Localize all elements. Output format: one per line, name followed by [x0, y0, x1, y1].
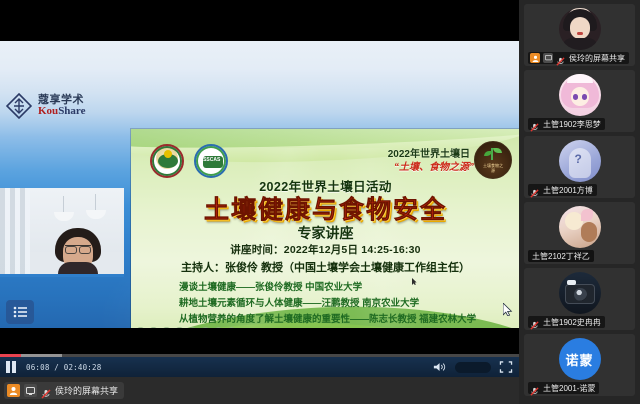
koushare-logo-share: Share [58, 105, 85, 117]
mic-muted-icon [530, 185, 540, 195]
slide-world-soil-day-slogan: “土壤、食物之源” [394, 158, 474, 173]
participant-name: 土管2001方博 [543, 185, 593, 196]
pointer-icon[interactable] [175, 327, 184, 328]
share-screen-icon [24, 384, 37, 397]
pause-icon[interactable] [6, 361, 18, 373]
meeting-status-bar: 侯玲的屏幕共享 [0, 377, 519, 404]
participant-tile[interactable]: 侯玲的屏幕共享 [524, 4, 635, 66]
participant-nameplate: 土管1902史冉冉 [528, 316, 605, 328]
status-bar-label: 侯玲的屏幕共享 [55, 384, 118, 397]
avatar [559, 272, 601, 314]
screen-icon[interactable] [201, 327, 210, 328]
participant-nameplate: 土管2001-诺蒙 [528, 382, 599, 394]
issas-cas-emblem-text: ISSCAS [196, 157, 226, 163]
mic-muted-icon [530, 383, 540, 393]
playlist-button[interactable] [6, 300, 34, 324]
camera-lamp-icon [86, 210, 106, 219]
slide-agenda-item: 耕地土壤元素循环与人体健康——汪鹏教授 南京农业大学 [179, 295, 419, 309]
slide-annotation-toolbar[interactable] [136, 326, 236, 328]
volume-icon[interactable] [433, 361, 447, 373]
highlighter-icon[interactable] [149, 327, 158, 328]
avatar: 诺蒙 [559, 338, 601, 380]
pen-icon[interactable] [136, 327, 145, 328]
presenter-camera-thumbnail [0, 188, 124, 277]
mic-muted-icon [530, 119, 540, 129]
presenter-figure [55, 228, 101, 274]
participant-tile[interactable]: 土管2102丁祥乙 [524, 202, 635, 264]
slide-icon[interactable] [188, 327, 197, 328]
participants-icon [7, 384, 20, 397]
presentation-slide: ISSCAS 土壤食物之源 2022年世界土壤日 “土壤、食物之源” 2022年… [131, 129, 519, 328]
stage-letterbox-top [0, 0, 519, 41]
china-soil-society-emblem [150, 144, 184, 178]
participant-name: 土管1902李思梦 [543, 119, 601, 130]
shared-desktop-background: 蔻享学术 KouShare [0, 41, 519, 328]
participant-tile[interactable]: 土管1902史冉冉 [524, 268, 635, 330]
koushare-logo: 蔻享学术 KouShare [6, 93, 86, 119]
glasses-icon [65, 245, 91, 251]
mouse-pointer-icon [503, 303, 513, 316]
camera-lamp-icon [54, 212, 74, 221]
avatar [559, 8, 601, 50]
smiley-icon[interactable] [214, 327, 223, 328]
participant-tile[interactable]: 诺蒙 土管2001-诺蒙 [524, 334, 635, 396]
mic-muted-icon [530, 317, 540, 327]
participant-name: 土管2102丁祥乙 [532, 251, 590, 262]
share-screen-icon [543, 53, 553, 63]
shared-screen-stage: 蔻享学术 KouShare [0, 0, 519, 404]
screen-share-indicator[interactable]: 侯玲的屏幕共享 [4, 382, 124, 399]
slide-host-line: 主持人：张俊伶 教授（中国土壤学会土壤健康工作组主任） [131, 259, 519, 275]
playlist-icon [13, 306, 28, 318]
slide-title: 土壤健康与食物安全 [131, 190, 519, 226]
slide-agenda-item: 从植物营养的角度了解土壤健康的重要性——陈志长教授 福建农林大学 [179, 311, 476, 325]
participant-name: 侯玲的屏幕共享 [569, 53, 625, 64]
zoom-meeting-window: 蔻享学术 KouShare [0, 0, 640, 404]
participant-name: 土管1902史冉冉 [543, 317, 601, 328]
avatar-initials: 诺蒙 [565, 350, 593, 369]
participant-tile[interactable]: ? 土管2001方博 [524, 136, 635, 198]
participant-nameplate: 土管2001方博 [528, 184, 597, 196]
quality-selector[interactable] [455, 362, 491, 373]
video-timecode: 06:08 / 02:40:28 [26, 363, 101, 372]
more-icon[interactable] [227, 327, 236, 328]
avatar [559, 206, 601, 248]
participant-nameplate: 土管1902李思梦 [528, 118, 605, 130]
slide-agenda-item: 漫谈土壤健康——张俊伶教授 中国农业大学 [179, 279, 362, 293]
text-cursor-icon [412, 272, 417, 279]
koushare-logo-kou: Kou [38, 105, 58, 117]
slide-subtitle: 专家讲座 [131, 223, 519, 243]
koushare-logo-en: KouShare [38, 106, 86, 117]
world-soil-day-badge-caption: 土壤食物之源 [482, 164, 504, 173]
participant-tile[interactable]: 土管1902李思梦 [524, 70, 635, 132]
video-controls-bar: 06:08 / 02:40:28 [0, 357, 519, 377]
camera-window-blinds [0, 188, 30, 277]
participant-name: 土管2001-诺蒙 [543, 383, 595, 394]
avatar [559, 74, 601, 116]
fullscreen-icon[interactable] [499, 361, 513, 373]
participant-nameplate: 土管2102丁祥乙 [528, 250, 594, 262]
world-soil-day-badge: 土壤食物之源 [474, 141, 512, 179]
issas-cas-emblem: ISSCAS [194, 144, 228, 178]
eraser-icon[interactable] [162, 327, 171, 328]
mic-muted-icon [556, 53, 566, 63]
participants-icon [530, 53, 540, 63]
participant-nameplate: 侯玲的屏幕共享 [528, 52, 629, 64]
slide-time-line: 讲座时间：2022年12月5日 14:25-16:30 [131, 242, 519, 257]
participant-filmstrip[interactable]: 侯玲的屏幕共享 土管1902李思梦 ? 土 [519, 0, 640, 404]
mic-muted-icon [41, 386, 51, 396]
koushare-mark-icon [6, 93, 32, 119]
avatar: ? [559, 140, 601, 182]
